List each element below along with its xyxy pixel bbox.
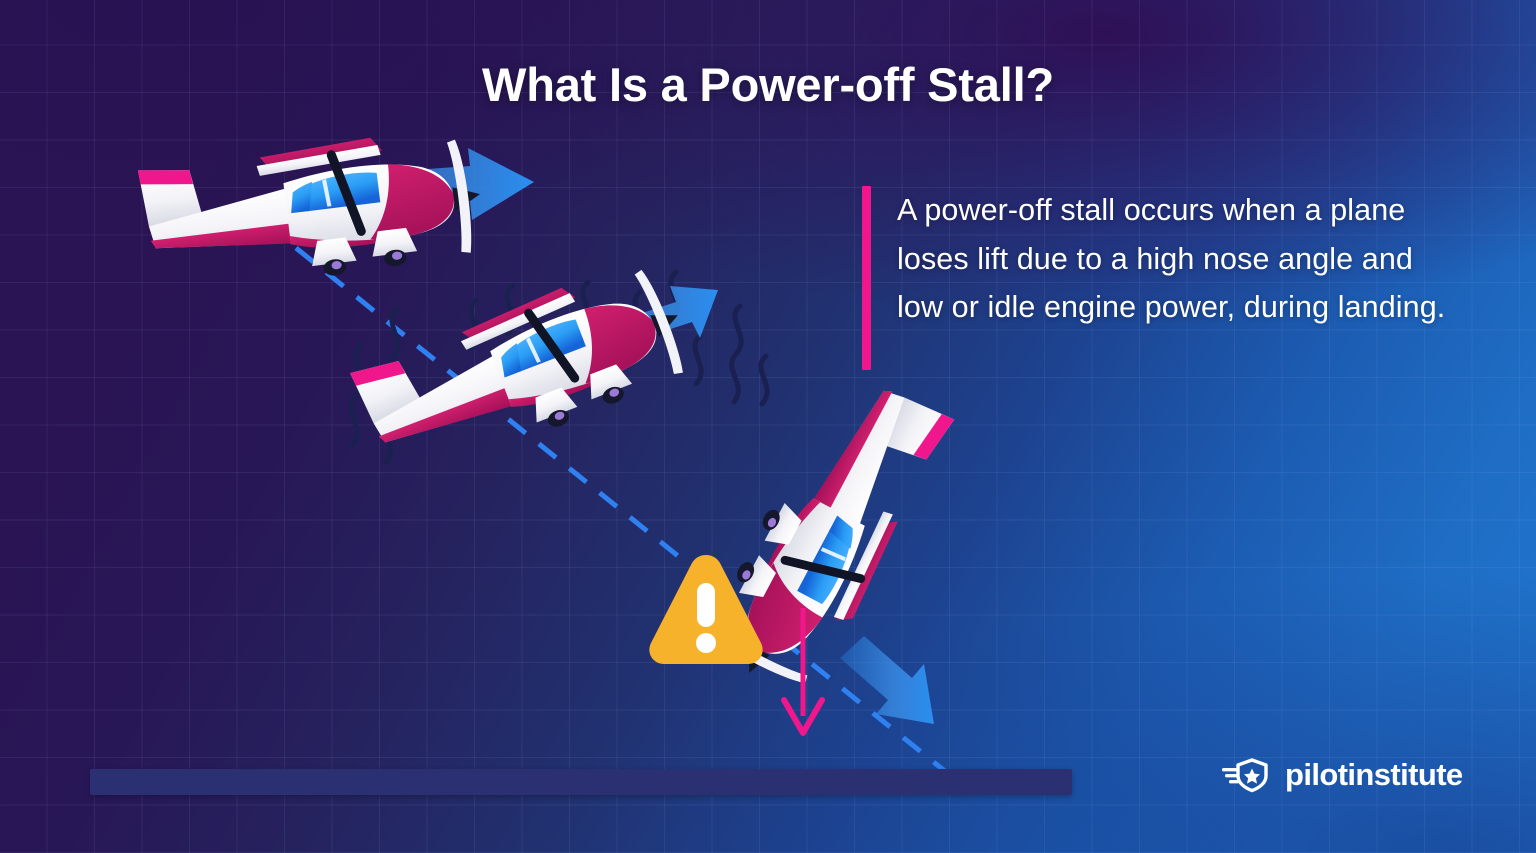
winged-shield-star-logo xyxy=(1222,757,1274,793)
callout-text: A power-off stall occurs when a plane lo… xyxy=(897,186,1457,370)
brand-name: pilotinstitute xyxy=(1285,757,1463,793)
ground-line xyxy=(90,769,1072,795)
brand-logo[interactable]: pilotinstitute xyxy=(1222,757,1463,793)
diagram-layer xyxy=(0,0,1536,853)
descent-arrow xyxy=(840,636,934,724)
nose-high-airplane xyxy=(349,252,700,489)
callout-block: A power-off stall occurs when a plane lo… xyxy=(862,186,1457,370)
infographic-canvas: What Is a Power-off Stall? xyxy=(0,0,1536,853)
accent-bar xyxy=(862,186,871,370)
level-flight-airplane xyxy=(137,125,487,298)
